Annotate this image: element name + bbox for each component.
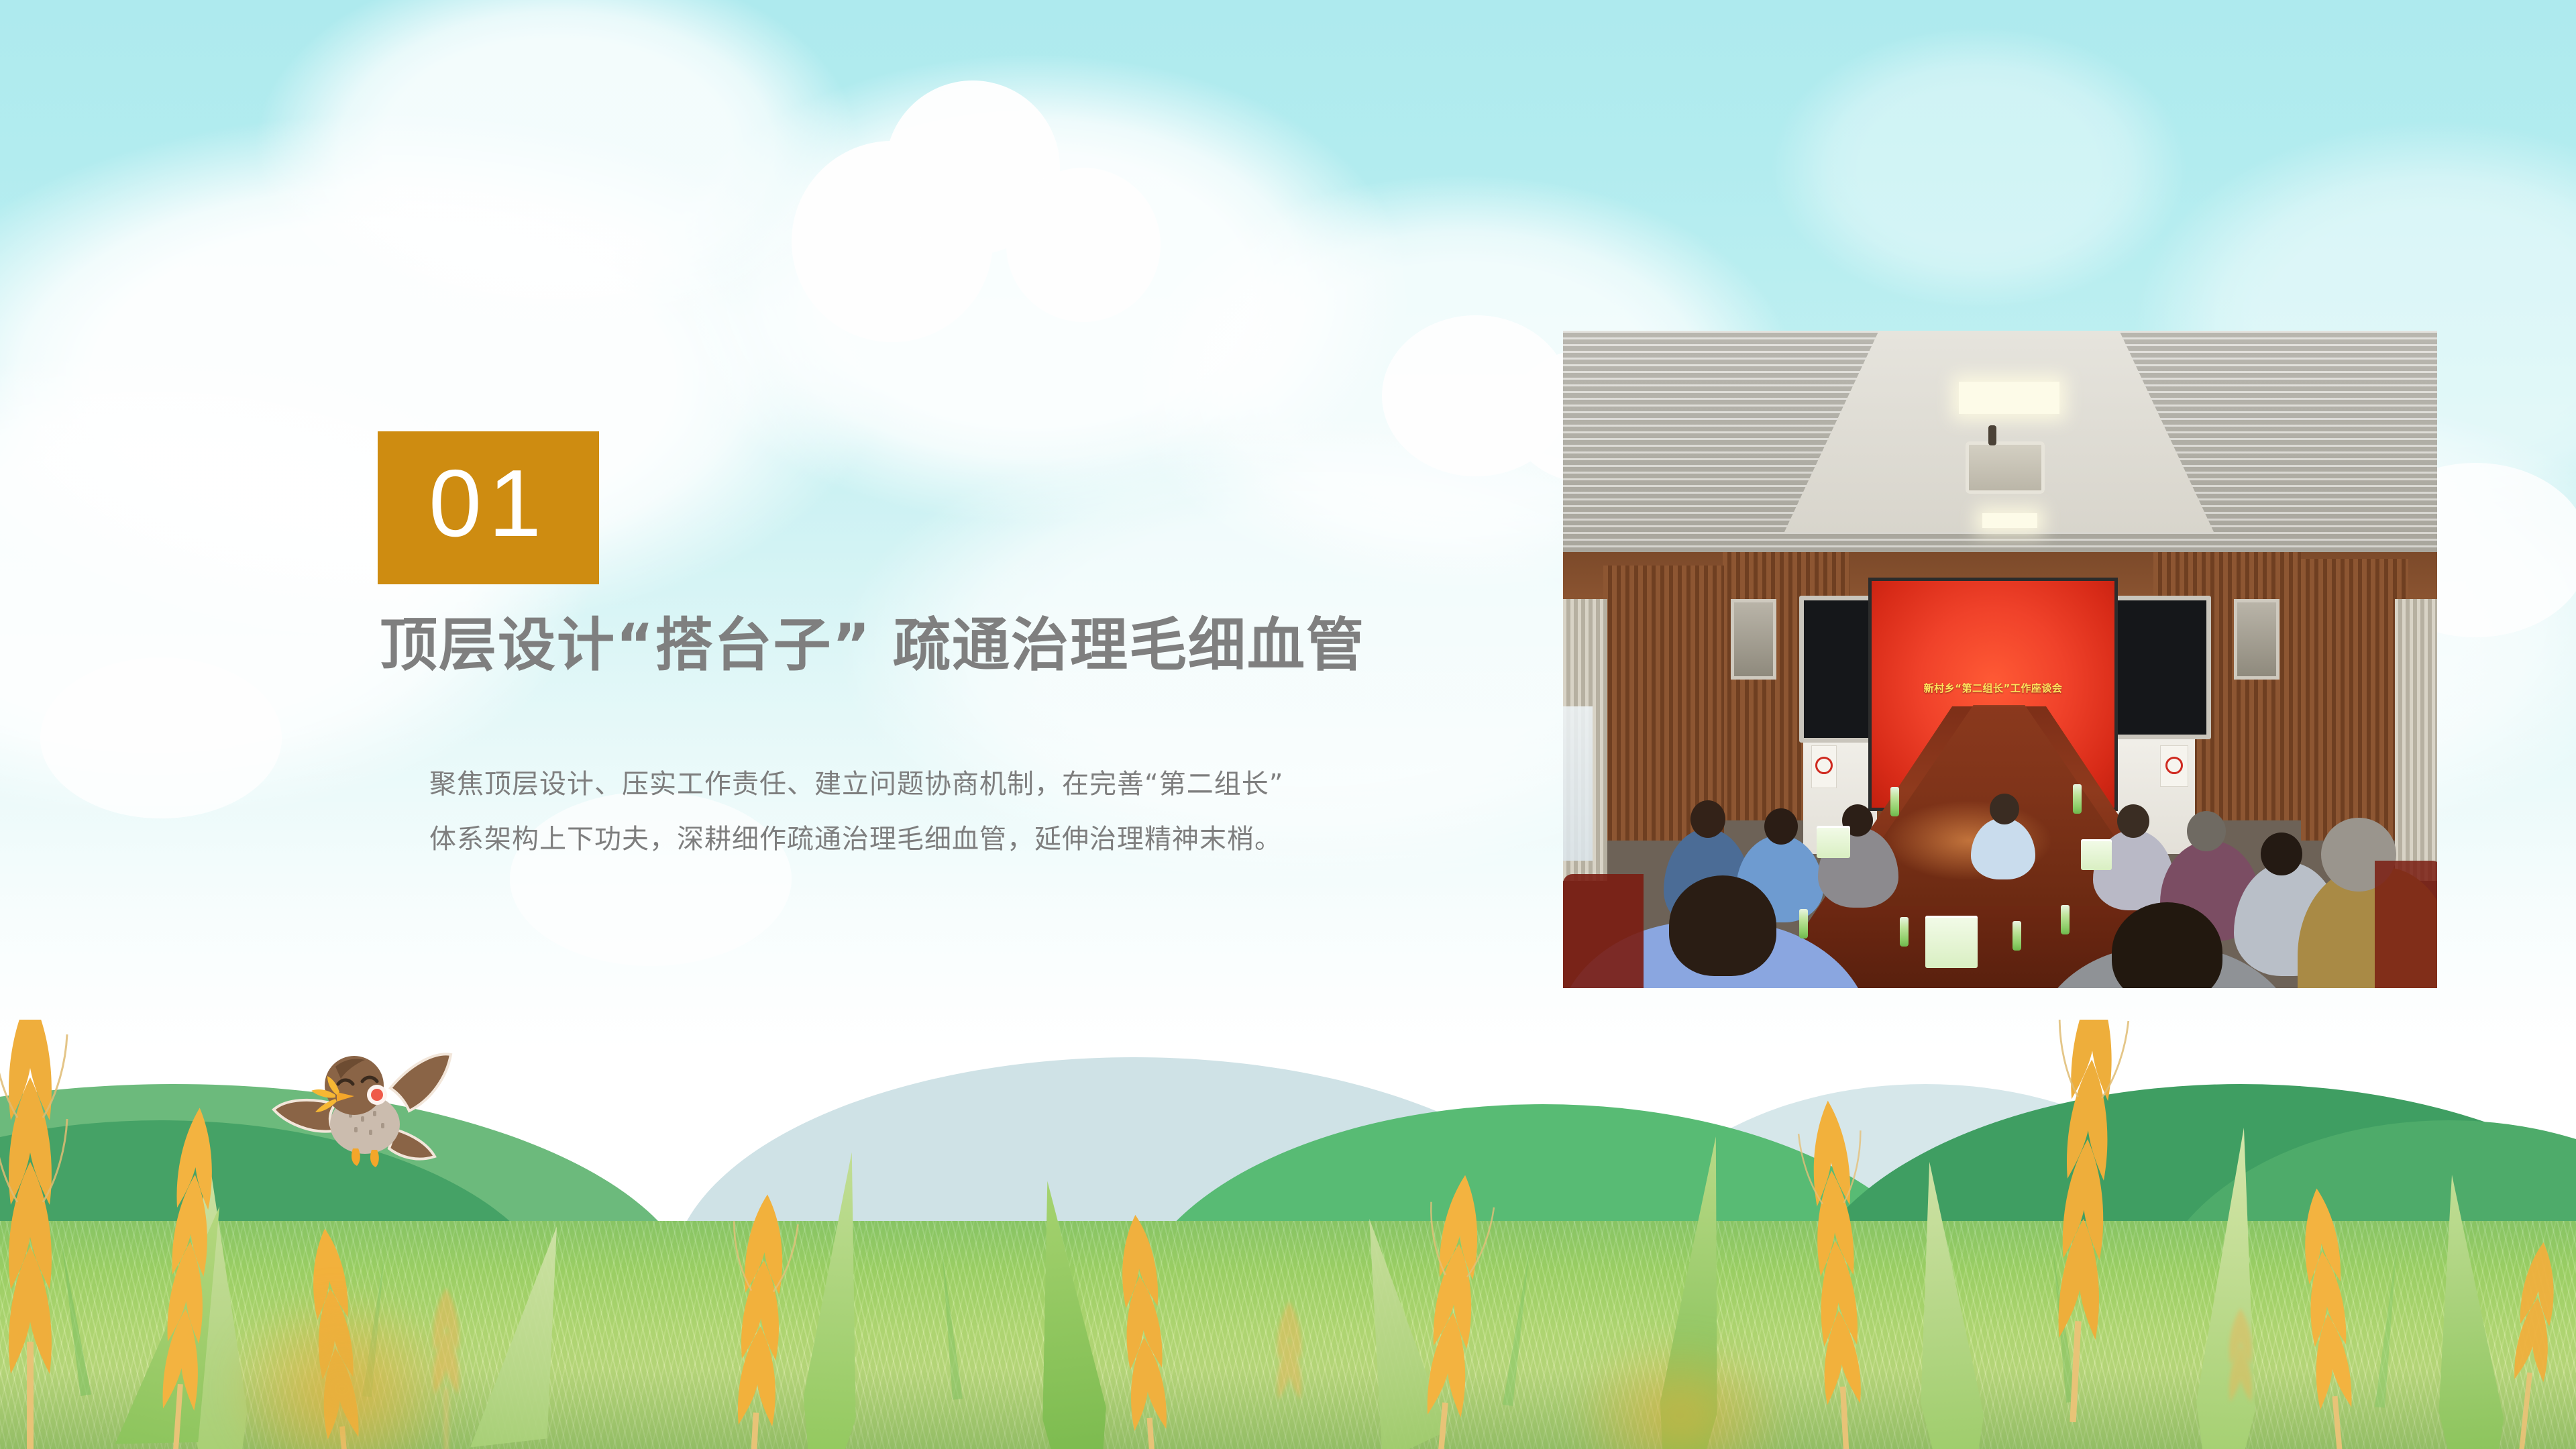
wheat-ear-background [2214,1308,2267,1449]
no-smoking-sign-right [2160,745,2188,787]
section-number-text: 01 [429,456,548,551]
water-bottle-4 [2061,905,2070,934]
wheat-ear [708,1192,811,1449]
attendee-right-3-head [2261,833,2302,875]
tissue-box-2 [1817,826,1850,858]
no-smoking-icon-2 [2165,757,2183,774]
body-paragraph: 聚焦顶层设计、压实工作责任、建立问题协商机制，在完善“第二组长” 体系架构上下功… [429,757,1496,867]
curtain-right [2395,599,2437,881]
water-bottle-3 [2012,921,2021,951]
attendee-foreground-blue-head [1669,875,1776,976]
attendee-right-2-head [2187,811,2226,851]
body-line-2: 体系架构上下功夫，深耕细作疏通治理毛细血管，延伸治理精神末梢。 [429,812,1496,867]
ceiling-light-2 [1982,513,2037,528]
water-bottle-6 [2073,784,2082,814]
water-bottle-1 [1799,909,1808,938]
slide-root: 01 顶层设计“搭台子” 疏通治理毛细血管 聚焦顶层设计、压实工作责任、建立问题… [0,0,2576,1449]
meeting-photo: 新村乡“第二组长”工作座谈会 [1563,331,2437,988]
attendee-left-1-head [1690,800,1725,838]
projection-banner-text: 新村乡“第二组长”工作座谈会 [1872,681,2114,695]
water-bottle-2 [1900,917,1909,947]
no-smoking-sign-left [1811,745,1837,788]
wheat-field-illustration [0,1020,2576,1449]
water-bottle-5 [1890,787,1899,816]
wall-speaker-right [2234,599,2279,680]
wheat-ear-background [1261,1301,1318,1449]
page-title: 顶层设计“搭台子” 疏通治理毛细血管 [380,614,1365,678]
tissue-box-3 [2081,839,2112,870]
wheat-ear [0,1020,80,1449]
wood-panel-far-left [1603,566,1724,841]
tv-right [2108,596,2211,739]
body-line-1: 聚焦顶层设计、压实工作责任、建立问题协商机制，在完善“第二组长” [429,757,1496,812]
tissue-box-1 [1925,916,1978,968]
attendee-right-1-head [2117,804,2149,838]
no-smoking-icon [1815,757,1833,774]
wheat-bokeh [221,1288,463,1449]
sparrow-bird [271,1040,466,1194]
wood-panel-far-right [2301,559,2408,841]
ceiling-light-1 [1959,382,2059,414]
attendee-chairperson-head [1990,794,2019,824]
window-left [1563,706,1593,861]
wall-speaker-left [1731,599,1776,680]
ceiling-ac-unit [1966,441,2045,494]
wheat-bokeh [1570,1335,1791,1449]
section-number-badge: 01 [378,431,599,584]
attendee-left-2-head [1764,808,1798,845]
